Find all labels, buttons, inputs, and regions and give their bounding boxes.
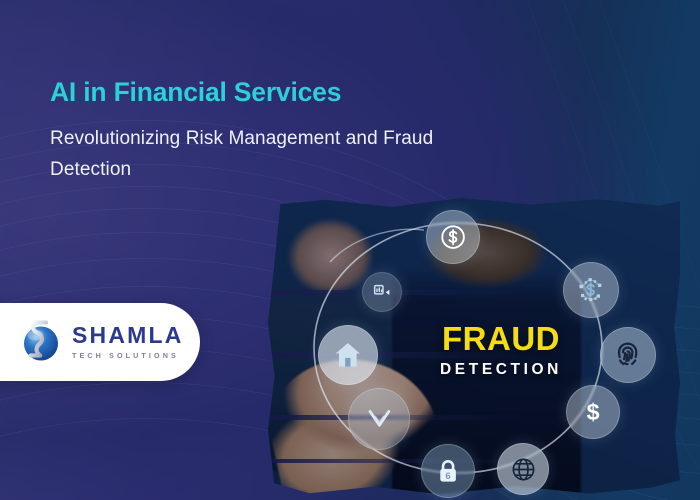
padlock-6-icon: 6 (421, 444, 475, 498)
fingerprint-icon (600, 327, 656, 383)
logo-wordmark: SHAMLA TECH SOLUTIONS (72, 324, 184, 360)
dollar-sign-icon: $ (566, 385, 620, 439)
blue-sphere-s-icon (18, 318, 64, 366)
svg-text:$: $ (587, 399, 600, 425)
page-title: AI in Financial Services (50, 78, 520, 107)
text-block: AI in Financial Services Revolutionizing… (50, 78, 520, 186)
page-subtitle: Revolutionizing Risk Management and Frau… (50, 124, 490, 186)
logo-tagline: TECH SOLUTIONS (72, 351, 184, 360)
padlock-digit: 6 (445, 471, 450, 482)
logo-panel[interactable]: SHAMLA TECH SOLUTIONS (0, 303, 200, 381)
logo-name: SHAMLA (72, 324, 184, 347)
detection-word: DETECTION (426, 362, 576, 378)
shield-check-icon (348, 388, 410, 450)
chart-arrow-icon (362, 272, 402, 312)
fraud-detection-label: FRAUD DETECTION (426, 322, 576, 378)
globe-icon (497, 443, 549, 495)
home-icon (318, 325, 378, 385)
dollar-circle-icon (426, 210, 480, 264)
money-network-icon (563, 262, 619, 318)
banner-root: $ 6 FRAUD DETECTION (0, 0, 700, 500)
fraud-word: FRAUD (426, 322, 576, 355)
